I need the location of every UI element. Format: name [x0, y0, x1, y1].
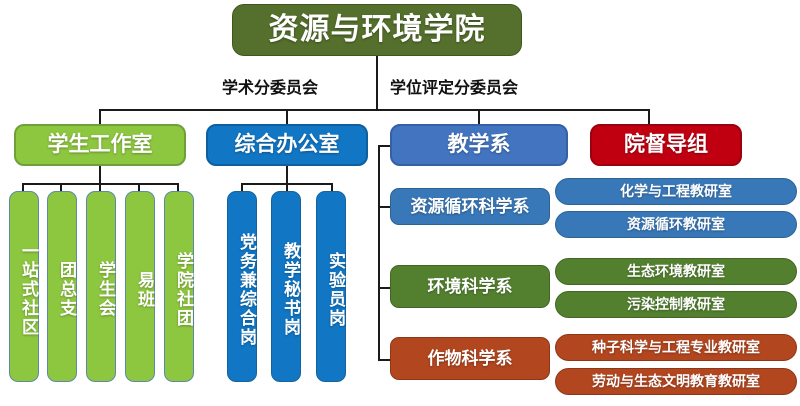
room-ecological-environment[interactable]: 生态环境教研室 — [555, 258, 797, 285]
student-child-college-clubs[interactable]: 学院社团 — [164, 191, 194, 382]
room-labor-and-ecological-civilization-education[interactable]: 劳动与生态文明教育教研室 — [555, 368, 797, 395]
department-environmental-science[interactable]: 环境科学系 — [390, 265, 550, 308]
department-crop-science[interactable]: 作物科学系 — [390, 337, 550, 380]
student-child-one-stop-community[interactable]: 一站式社区 — [9, 191, 39, 382]
connector-drop-student — [99, 109, 101, 124]
org-chart: 资源与环境学院 学术分委员会 学位评定分委员会 学生工作室 综合办公室 教学系 … — [0, 0, 800, 406]
connector-teaching-spine — [378, 145, 380, 360]
office-child-teaching-secretary-post[interactable]: 教学秘书岗 — [271, 191, 301, 382]
connector-main-bus — [99, 109, 649, 111]
connector-drop-teaching — [478, 109, 480, 124]
connector-root-to-bus — [376, 96, 378, 110]
division-teaching-departments[interactable]: 教学系 — [390, 124, 568, 166]
office-child-lab-technician-post[interactable]: 实验员岗 — [316, 191, 346, 382]
room-chemistry-and-engineering[interactable]: 化学与工程教研室 — [555, 178, 797, 205]
student-child-youth-league-branch[interactable]: 团总支 — [47, 191, 77, 382]
connector-committee-divider — [376, 66, 378, 96]
committee-degree-label: 学位评定分委员会 — [390, 74, 518, 98]
division-student-work-office[interactable]: 学生工作室 — [14, 124, 186, 166]
room-seed-science-and-engineering[interactable]: 种子科学与工程专业教研室 — [555, 334, 797, 361]
committee-academic-label: 学术分委员会 — [222, 74, 318, 98]
division-supervision-group[interactable]: 院督导组 — [590, 124, 742, 166]
student-child-student-union[interactable]: 学生会 — [86, 191, 116, 382]
department-resource-recycling-science[interactable]: 资源循环科学系 — [390, 188, 550, 225]
connector-drop-supervise — [648, 109, 650, 124]
root-node[interactable]: 资源与环境学院 — [232, 4, 522, 56]
student-child-yiban[interactable]: 易班 — [125, 191, 155, 382]
connector-office-stem — [286, 166, 288, 184]
connector-student-stem — [99, 166, 101, 184]
room-resource-recycling[interactable]: 资源循环教研室 — [555, 211, 797, 238]
office-child-party-affairs-post[interactable]: 党务兼综合岗 — [227, 191, 257, 382]
division-general-office[interactable]: 综合办公室 — [206, 124, 368, 166]
room-pollution-control[interactable]: 污染控制教研室 — [555, 291, 797, 318]
connector-drop-office — [286, 109, 288, 124]
